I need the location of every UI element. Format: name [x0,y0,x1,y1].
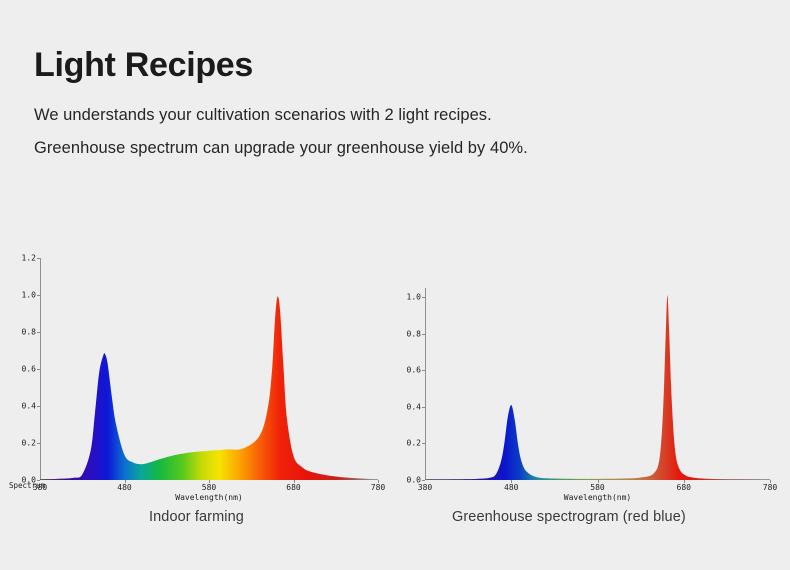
subtitle-line-1: We understands your cultivation scenario… [34,104,764,127]
x-tick-mark [125,480,126,483]
x-tick-label: 580 [590,483,604,492]
x-tick-mark [770,480,771,483]
y-tick-mark [37,406,40,407]
y-tick-label: 0.2 [407,439,421,448]
chart-greenhouse-spectrogram: Wavelength(nm) 0.00.20.40.60.81.03804805… [395,236,790,486]
x-axis-label-indoor: Wavelength(nm) [175,493,242,502]
light-recipes-page: Light Recipes We understands your cultiv… [0,0,790,570]
x-tick-mark [294,480,295,483]
y-tick-label: 0.6 [22,365,36,374]
y-tick-mark [37,258,40,259]
x-tick-mark [511,480,512,483]
plot-area-indoor-farming: Wavelength(nm) 0.00.20.40.60.81.01.23804… [40,258,378,480]
x-tick-label: 380 [418,483,432,492]
y-tick-label: 1.0 [407,293,421,302]
plot-area-greenhouse: Wavelength(nm) 0.00.20.40.60.81.03804805… [425,288,770,480]
subtitle-line-2: Greenhouse spectrum can upgrade your gre… [34,137,764,160]
x-tick-mark [684,480,685,483]
spectrum-curve-indoor [40,258,378,480]
y-tick-mark [422,407,425,408]
y-tick-label: 0.4 [407,402,421,411]
chart-indoor-farming: Spectrum [0,236,395,486]
y-tick-label: 1.2 [22,254,36,263]
y-tick-mark [37,369,40,370]
caption-indoor-farming: Indoor farming [149,509,244,525]
x-tick-label: 680 [677,483,691,492]
x-tick-label: 480 [504,483,518,492]
spectrum-curve-greenhouse [425,288,770,480]
subtitle-block: We understands your cultivation scenario… [34,104,764,161]
y-tick-label: 0.4 [22,402,36,411]
captions-row: Indoor farming Greenhouse spectrogram (r… [0,505,790,539]
y-tick-mark [37,443,40,444]
x-tick-mark [378,480,379,483]
charts-row: Spectrum [0,236,790,486]
y-tick-label: 0.2 [22,439,36,448]
y-tick-label: 0.8 [407,329,421,338]
x-tick-label: 780 [763,483,777,492]
x-tick-label: 380 [33,483,47,492]
y-tick-mark [422,370,425,371]
page-title: Light Recipes [34,48,764,84]
x-axis-label-greenhouse: Wavelength(nm) [564,493,631,502]
x-tick-label: 480 [117,483,131,492]
y-tick-mark [422,334,425,335]
y-tick-mark [37,480,40,481]
x-tick-label: 780 [371,483,385,492]
y-tick-label: 0.6 [407,366,421,375]
x-tick-mark [598,480,599,483]
x-tick-label: 580 [202,483,216,492]
y-tick-mark [422,480,425,481]
y-tick-label: 0.8 [22,328,36,337]
y-tick-mark [422,443,425,444]
caption-greenhouse: Greenhouse spectrogram (red blue) [452,509,686,525]
y-tick-label: 1.0 [22,291,36,300]
y-tick-mark [37,332,40,333]
y-tick-mark [422,297,425,298]
y-tick-mark [37,295,40,296]
x-tick-mark [209,480,210,483]
header-block: Light Recipes We understands your cultiv… [34,48,764,171]
x-tick-label: 680 [286,483,300,492]
